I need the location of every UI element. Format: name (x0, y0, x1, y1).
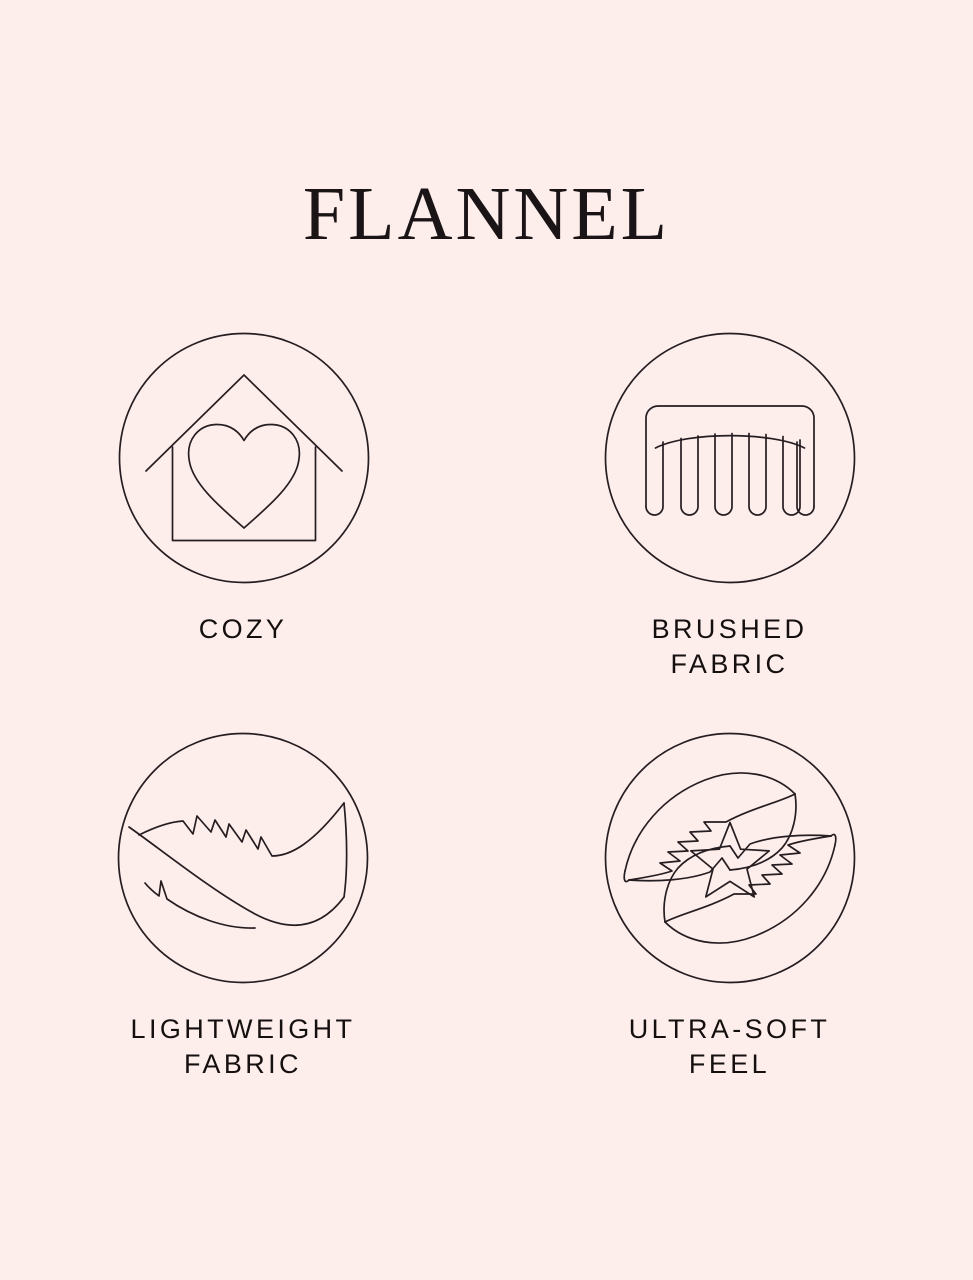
single-feather-icon (115, 730, 371, 986)
feature-grid: COZY (0, 330, 973, 1130)
feature-item-cozy[interactable]: COZY (0, 330, 486, 730)
brush-comb-icon (602, 330, 858, 586)
two-feathers-with-star-icon (602, 730, 858, 986)
feature-item-brushed-fabric[interactable]: BRUSHED FABRIC (486, 330, 973, 730)
poster-canvas: FLANNEL COZY (0, 0, 973, 1280)
page-title: FLANNEL (0, 176, 973, 252)
feature-item-lightweight-fabric[interactable]: LIGHTWEIGHT FABRIC (0, 730, 486, 1130)
feature-label-cozy: COZY (199, 612, 288, 647)
feature-label-ultra-soft-feel: ULTRA-SOFT FEEL (629, 1012, 831, 1081)
feature-label-lightweight-fabric: LIGHTWEIGHT FABRIC (131, 1012, 356, 1081)
feature-label-brushed-fabric: BRUSHED FABRIC (652, 612, 808, 681)
house-with-heart-icon (116, 330, 372, 586)
feature-item-ultra-soft-feel[interactable]: ULTRA-SOFT FEEL (486, 730, 973, 1130)
